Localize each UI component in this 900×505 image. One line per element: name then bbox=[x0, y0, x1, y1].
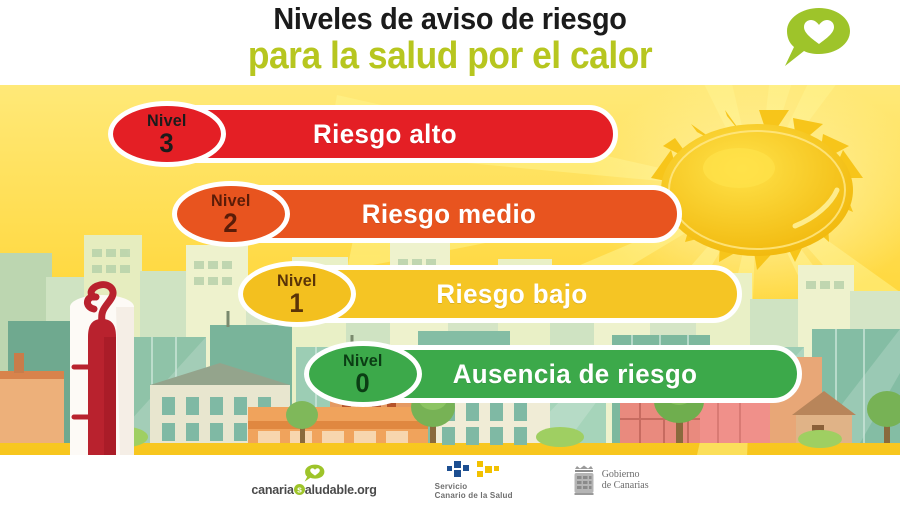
badge-number-3: 3 bbox=[160, 130, 174, 157]
logo-servicio-canario-salud[interactable]: Servicio Canario de la Salud bbox=[435, 460, 513, 500]
logo-text-aludable: aludable.org bbox=[305, 483, 377, 497]
poster-footer: canaria s aludable.org bbox=[0, 455, 900, 505]
logo-gobierno-canarias[interactable]: Gobierno de Canarias bbox=[571, 464, 649, 496]
heart-speech-bubble-icon bbox=[303, 464, 325, 482]
scs-squares-icon bbox=[445, 460, 503, 480]
risk-level-row-0[interactable]: Ausencia de riesgo Nivel 0 bbox=[304, 341, 802, 407]
gobierno-line2: de Canarias bbox=[602, 480, 649, 491]
svg-text:s: s bbox=[297, 485, 302, 495]
green-s-icon: s bbox=[294, 484, 305, 495]
scene-illustration: Riesgo alto Nivel 3 Riesgo medio Nivel 2 bbox=[0, 85, 900, 455]
gobierno-line1: Gobierno bbox=[602, 469, 649, 480]
badge-word-1: Nivel bbox=[277, 272, 317, 289]
infographic-poster: Niveles de aviso de riesgo para la salud… bbox=[0, 0, 900, 505]
risk-level-list: Riesgo alto Nivel 3 Riesgo medio Nivel 2 bbox=[0, 85, 900, 455]
risk-level-badge-3[interactable]: Nivel 3 bbox=[108, 101, 226, 167]
badge-number-0: 0 bbox=[356, 370, 370, 397]
risk-level-row-3[interactable]: Riesgo alto Nivel 3 bbox=[108, 101, 618, 167]
page-title-line1: Niveles de aviso de riesgo bbox=[32, 2, 869, 36]
badge-number-1: 1 bbox=[290, 290, 304, 317]
scs-line1: Servicio bbox=[435, 482, 513, 491]
poster-header: Niveles de aviso de riesgo para la salud… bbox=[0, 0, 900, 85]
logo-text-canaria: canaria bbox=[251, 483, 293, 497]
risk-level-label-0: Ausencia de riesgo bbox=[362, 350, 788, 398]
badge-word-0: Nivel bbox=[343, 352, 383, 369]
heart-speech-bubble-icon bbox=[779, 6, 853, 68]
title-block: Niveles de aviso de riesgo para la salud… bbox=[0, 2, 900, 76]
risk-level-badge-0[interactable]: Nivel 0 bbox=[304, 341, 422, 407]
risk-level-row-2[interactable]: Riesgo medio Nivel 2 bbox=[172, 181, 682, 247]
risk-level-label-3: Riesgo alto bbox=[166, 110, 604, 158]
canary-coat-of-arms-icon bbox=[571, 464, 597, 496]
badge-number-2: 2 bbox=[224, 210, 238, 237]
scs-line2: Canario de la Salud bbox=[435, 491, 513, 500]
risk-level-badge-1[interactable]: Nivel 1 bbox=[238, 261, 356, 327]
logo-canariasaludable[interactable]: canaria s aludable.org bbox=[251, 464, 376, 497]
risk-level-row-1[interactable]: Riesgo bajo Nivel 1 bbox=[238, 261, 742, 327]
risk-level-label-1: Riesgo bajo bbox=[296, 270, 728, 318]
badge-word-2: Nivel bbox=[211, 192, 251, 209]
page-title-line2: para la salud por el calor bbox=[32, 36, 869, 76]
risk-level-label-2: Riesgo medio bbox=[230, 190, 668, 238]
risk-level-badge-2[interactable]: Nivel 2 bbox=[172, 181, 290, 247]
badge-word-3: Nivel bbox=[147, 112, 187, 129]
